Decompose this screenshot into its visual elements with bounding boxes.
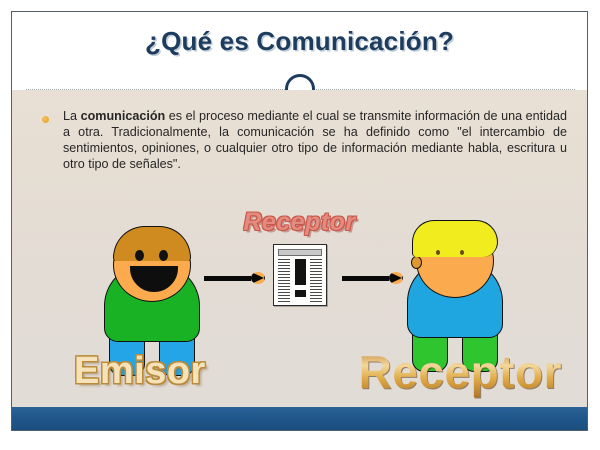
page-title: ¿Qué es Comunicación? xyxy=(12,26,587,57)
paragraph-bold-term: comunicación xyxy=(81,109,166,123)
emisor-label: Emisor xyxy=(74,350,206,393)
exclamation-bar-icon xyxy=(295,259,306,285)
body-paragraph: La comunicación es el proceso mediante e… xyxy=(63,108,567,172)
receptor-label: Receptor xyxy=(359,345,562,399)
arrow-sender-to-message-icon xyxy=(204,272,264,284)
bullet-dot-icon xyxy=(42,116,49,123)
slide-body: La comunicación es el proceso mediante e… xyxy=(12,90,587,410)
receiver-eye-right xyxy=(460,250,464,255)
sender-hair xyxy=(113,226,191,261)
doc-columns xyxy=(278,259,322,302)
arrow-message-to-receiver-icon xyxy=(342,272,402,284)
exclamation-dot-icon xyxy=(295,290,306,297)
receiver-hair xyxy=(412,220,498,257)
paragraph-lead: La xyxy=(63,109,81,123)
doc-masthead xyxy=(278,249,322,256)
arrow-shaft xyxy=(342,276,389,281)
slide-canvas: ¿Qué es Comunicación? La comunicación es… xyxy=(11,11,588,431)
sender-eye-left xyxy=(135,250,144,261)
bullet-list-item: La comunicación es el proceso mediante e… xyxy=(37,108,567,172)
newspaper-exclamation-icon xyxy=(273,244,327,306)
doc-column-left xyxy=(278,259,290,302)
receiver-eye-left xyxy=(436,250,440,255)
doc-column-right xyxy=(310,259,322,302)
sender-eye-right xyxy=(159,250,168,261)
arrow-head xyxy=(251,272,265,284)
receiver-ear xyxy=(411,256,422,269)
footer-bar xyxy=(12,407,587,430)
arrow-shaft xyxy=(204,276,251,281)
